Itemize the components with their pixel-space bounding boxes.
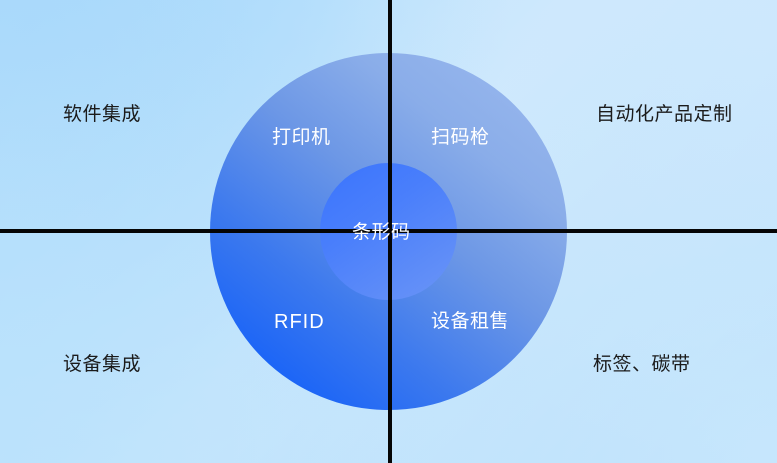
outer-label-software-integration: 软件集成 [63, 105, 141, 124]
inner-label-scanner: 扫码枪 [431, 128, 490, 147]
diagram-canvas: 软件集成 自动化产品定制 设备集成 标签、碳带 打印机 扫码枪 RFID 设备租… [0, 0, 777, 463]
outer-label-labels-ribbons: 标签、碳带 [593, 355, 691, 374]
outer-label-device-integration: 设备集成 [63, 355, 141, 374]
center-label-barcode: 条形码 [352, 223, 411, 242]
outer-label-automation-customize: 自动化产品定制 [596, 105, 733, 124]
inner-label-rental: 设备租售 [431, 312, 509, 331]
inner-label-printer: 打印机 [272, 128, 331, 147]
inner-label-rfid: RFID [274, 312, 325, 332]
